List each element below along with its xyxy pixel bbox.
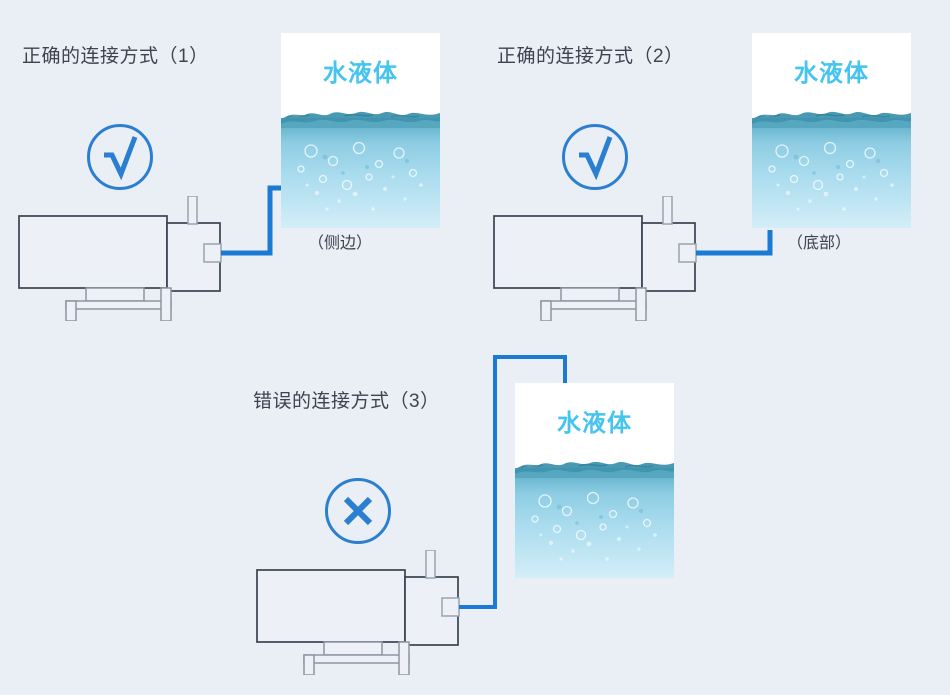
pump-outlet-nozzle <box>679 244 696 262</box>
base-leg-left <box>66 301 76 321</box>
panel-2-caption: （底部） <box>787 229 851 253</box>
panel-3-title: 错误的连接方式（3） <box>253 386 440 413</box>
panel-1-title: 正确的连接方式（1） <box>22 41 209 68</box>
water-tank-panel-1: 水液体 <box>281 33 440 228</box>
base-leg-right <box>399 642 409 675</box>
pump-outlet-nozzle <box>442 598 459 616</box>
pipe-panel-2-bottom-connection <box>696 230 770 253</box>
panel-1-caption: （侧边） <box>308 229 372 253</box>
diagram-canvas: 正确的连接方式（1） 正确的连接方式（2） 错误的连接方式（3） （侧边） （底… <box>0 0 950 695</box>
base-rail <box>66 301 171 309</box>
pump-vertical-port <box>426 550 435 578</box>
check-mark-circle-icon <box>87 124 153 190</box>
pump-assembly-panel-2 <box>493 196 703 326</box>
base-leg-right <box>636 288 646 321</box>
check-mark-circle-icon <box>562 124 628 190</box>
cross-mark-circle-icon <box>325 478 391 544</box>
pump-outlet-nozzle <box>204 244 221 262</box>
motor-body <box>19 216 167 288</box>
base-leg-right <box>161 288 171 321</box>
pump-vertical-port <box>188 196 197 224</box>
pump-assembly-panel-3 <box>256 550 466 680</box>
pipe-panel-1-side-connection <box>221 188 283 253</box>
motor-pedestal <box>324 642 382 655</box>
pump-vertical-port <box>663 196 672 224</box>
motor-pedestal <box>86 288 144 301</box>
motor-body <box>257 570 405 642</box>
motor-pedestal <box>561 288 619 301</box>
water-tank-panel-2: 水液体 <box>752 33 911 228</box>
base-rail <box>304 655 409 663</box>
water-tank-panel-3: 水液体 <box>515 383 674 578</box>
base-leg-left <box>541 301 551 321</box>
tank-label: 水液体 <box>281 53 440 88</box>
base-leg-left <box>304 655 314 675</box>
tank-label: 水液体 <box>515 403 674 438</box>
tank-label: 水液体 <box>752 53 911 88</box>
motor-body <box>494 216 642 288</box>
panel-2-title: 正确的连接方式（2） <box>497 41 684 68</box>
pump-assembly-panel-1 <box>18 196 228 326</box>
base-rail <box>541 301 646 309</box>
